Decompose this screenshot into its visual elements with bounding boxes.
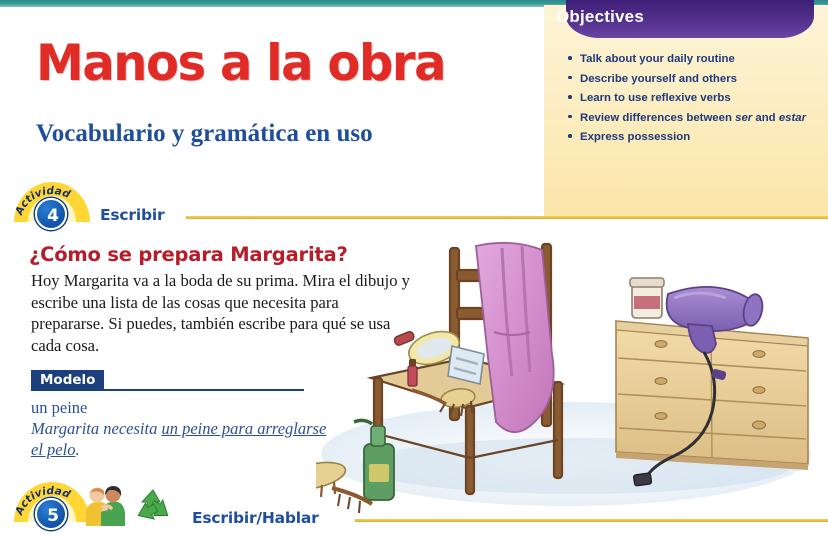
objective-item: Review differences between ser and estar: [566, 111, 816, 126]
activity5-skill-label: Escribir/Hablar: [192, 509, 319, 527]
activity5-gold-rule: [355, 519, 828, 522]
recycle-icon: [133, 488, 173, 526]
modelo-label: Modelo: [31, 370, 104, 391]
cream-jar: [630, 278, 664, 318]
objectives-panel: Objectives Talk about your daily routine…: [536, 0, 828, 219]
objective-text: Review differences between: [580, 112, 735, 124]
bullet-icon: [568, 115, 572, 119]
bullet-icon: [568, 95, 572, 99]
modelo-example: un peine Margarita necesita un peine par…: [31, 397, 331, 460]
bullet-icon: [568, 56, 572, 60]
two-people-icon: [84, 486, 126, 526]
badge-number-5: 5: [37, 500, 69, 532]
objective-italic-estar: estar: [779, 112, 806, 124]
objective-item: Express possession: [566, 130, 816, 145]
bullet-icon: [568, 134, 572, 138]
modelo-prompt: un peine: [31, 397, 331, 418]
objective-item: Describe yourself and others: [566, 72, 816, 87]
activity-badge-4: Actividad 4: [14, 182, 90, 228]
bedroom-grooming-items-illustration: [316, 226, 828, 518]
activity-badge-5: Actividad 5: [14, 482, 90, 528]
objective-italic-ser: ser: [735, 112, 752, 124]
objectives-list: Talk about your daily routine Describe y…: [566, 52, 816, 150]
page-title: Manos a la obra: [36, 34, 445, 92]
objective-text: Learn to use reflexive verbs: [580, 92, 731, 104]
objective-item: Talk about your daily routine: [566, 52, 816, 67]
objective-text: Talk about your daily routine: [580, 53, 735, 65]
page-subtitle: Vocabulario y gramática en uso: [36, 120, 373, 148]
objective-mid: and: [752, 112, 779, 124]
objectives-title: Objectives: [556, 7, 644, 27]
badge-number-4: 4: [37, 200, 69, 232]
textbook-page: Objectives Talk about your daily routine…: [0, 0, 828, 536]
activity4-skill-label: Escribir: [100, 206, 164, 224]
activity4-gold-rule: [186, 216, 828, 219]
bullet-icon: [568, 76, 572, 80]
activity4-heading: ¿Cómo se prepara Margarita?: [29, 243, 348, 266]
objective-item: Learn to use reflexive verbs: [566, 91, 816, 106]
modelo-box: Modelo: [31, 370, 311, 391]
objective-text: Describe yourself and others: [580, 73, 737, 85]
modelo-answer-plain: Margarita necesita: [31, 419, 161, 438]
modelo-answer-end: .: [75, 440, 79, 459]
purple-towel: [476, 243, 554, 432]
badge-circle-5: 5: [35, 498, 67, 530]
badge-circle-4: 4: [35, 198, 67, 230]
objective-text: Express possession: [580, 131, 690, 143]
modelo-answer: Margarita necesita un peine para arregla…: [31, 418, 331, 460]
